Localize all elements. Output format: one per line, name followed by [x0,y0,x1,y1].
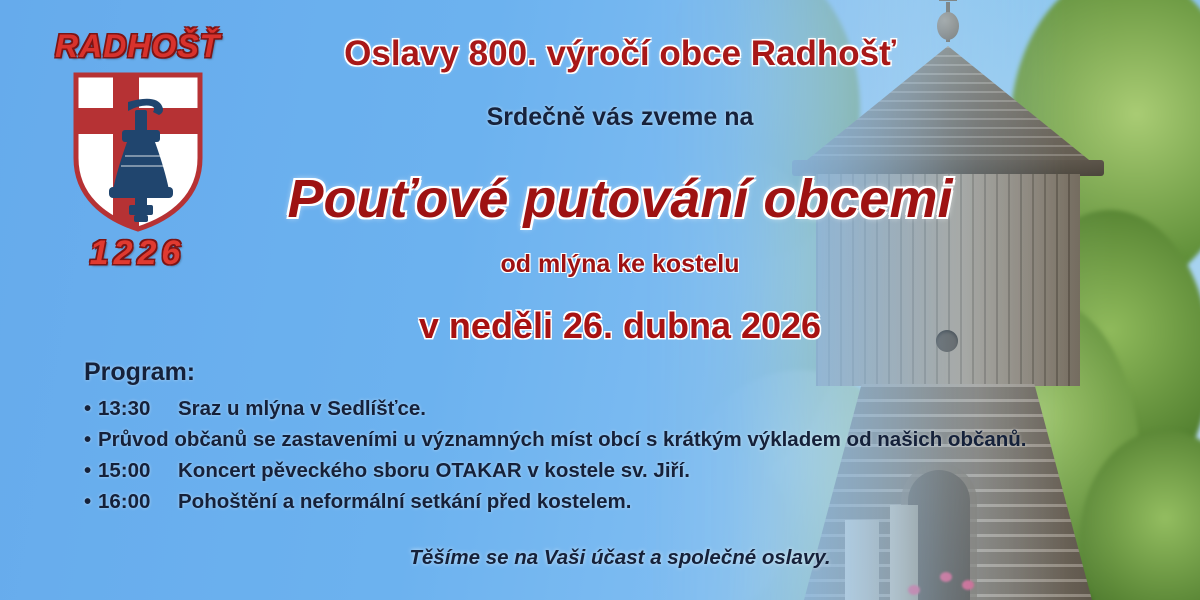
program-item: •13:30Sraz u mlýna v Sedlíšťce. [84,393,1084,424]
anniversary-headline: Oslavy 800. výročí obce Radhošť [0,34,1200,74]
program-heading: Program: [84,358,1084,387]
bullet-icon: • [84,393,98,424]
event-poster: RADHOŠŤ [0,0,1200,600]
program-item: •Průvod občanů se zastaveními u významný… [84,424,1084,455]
program-item-text: Koncert pěveckého sboru OTAKAR v kostele… [178,459,690,482]
program-item-time: 15:00 [98,455,178,486]
bullet-icon: • [84,424,98,455]
program-item: •15:00Koncert pěveckého sboru OTAKAR v k… [84,455,1084,486]
program-item-text: Průvod občanů se zastaveními u významnýc… [98,428,1027,451]
program-item-text: Pohoštění a neformální setkání před kost… [178,490,631,513]
program-item-text: Sraz u mlýna v Sedlíšťce. [178,397,426,420]
event-date: v neděli 26. dubna 2026 [0,305,1200,347]
program-item: •16:00Pohoštění a neformální setkání pře… [84,486,1084,517]
program-item-time: 16:00 [98,486,178,517]
closing-message: Těšíme se na Vaši účast a společné oslav… [0,546,1200,570]
invitation-line: Srdečně vás zveme na [0,103,1200,132]
bullet-icon: • [84,455,98,486]
program-section: Program: •13:30Sraz u mlýna v Sedlíšťce.… [84,358,1084,517]
program-item-time: 13:30 [98,393,178,424]
bullet-icon: • [84,486,98,517]
event-title: Pouťové putování obcemi [0,168,1200,230]
event-subtitle: od mlýna ke kostelu [0,250,1200,279]
program-list: •13:30Sraz u mlýna v Sedlíšťce. •Průvod … [84,393,1084,517]
